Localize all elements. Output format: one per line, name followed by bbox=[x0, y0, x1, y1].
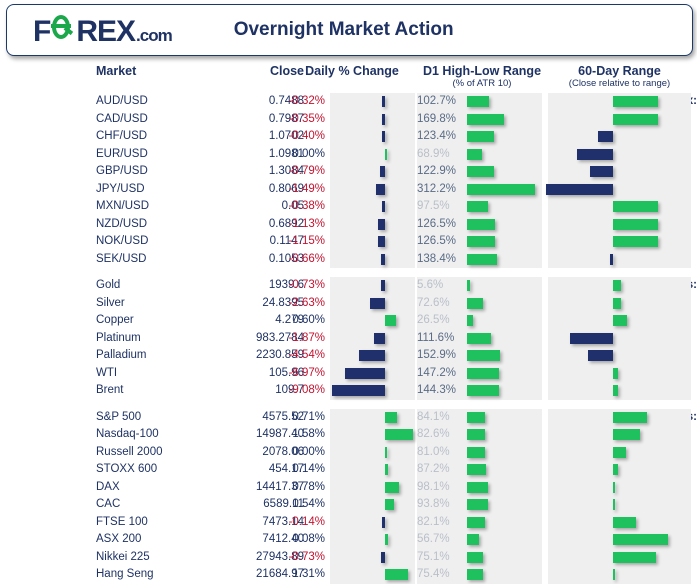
d1-range-bar bbox=[467, 534, 479, 545]
daily-change-bar bbox=[385, 482, 399, 493]
daily-change-bar bbox=[359, 350, 385, 361]
daily-change-bar bbox=[332, 385, 385, 396]
d1-range-value-label: 82.6% bbox=[417, 426, 465, 444]
sixty-day-range-bar bbox=[613, 96, 658, 107]
d1-range-bar bbox=[467, 464, 486, 475]
d1-range-value-label: 138.4% bbox=[417, 251, 465, 269]
sixty-day-range-bar bbox=[598, 131, 613, 142]
daily-change-bar bbox=[378, 236, 385, 247]
d1-range-bar bbox=[467, 350, 500, 361]
sixty-day-range-bar bbox=[613, 315, 627, 326]
logo-letter-f: F bbox=[33, 17, 50, 47]
daily-change-bar bbox=[374, 333, 385, 344]
d1-range-bar bbox=[467, 219, 495, 230]
market-section: Indices:84.1%82.6%81.0%87.2%98.1%93.8%82… bbox=[0, 409, 697, 584]
daily-change-bar bbox=[378, 219, 385, 230]
sixty-day-range-bar bbox=[613, 368, 618, 379]
daily-change-bar bbox=[382, 201, 385, 212]
daily-change-bar bbox=[382, 517, 385, 528]
daily-change-chart-panel bbox=[330, 93, 415, 268]
sixty-day-range-chart-panel bbox=[548, 277, 691, 400]
d1-range-bar bbox=[467, 385, 499, 396]
d1-range-value-label: 169.8% bbox=[417, 111, 465, 129]
forex-com-logo: F REX .com bbox=[33, 13, 172, 47]
d1-range-bar bbox=[467, 114, 504, 125]
d1-range-bar bbox=[467, 517, 485, 528]
d1-range-value-label: 123.4% bbox=[417, 128, 465, 146]
daily-change-bar bbox=[385, 429, 413, 440]
daily-change-bar bbox=[381, 254, 385, 265]
d1-range-bar bbox=[467, 447, 485, 458]
sixty-day-range-bar bbox=[613, 482, 615, 493]
d1-range-bar bbox=[467, 552, 483, 563]
logo-letters-rex: REX bbox=[76, 17, 135, 47]
d1-range-value-label: 93.8% bbox=[417, 496, 465, 514]
daily-change-bar bbox=[382, 131, 385, 142]
sixty-day-range-bar bbox=[577, 149, 613, 160]
d1-range-value-label: 82.1% bbox=[417, 514, 465, 532]
daily-change-bar bbox=[385, 447, 387, 458]
d1-range-value-label: 152.9% bbox=[417, 347, 465, 365]
sixty-day-range-chart-panel bbox=[548, 409, 691, 584]
sixty-day-range-bar bbox=[613, 447, 626, 458]
sixty-day-range-bar bbox=[610, 254, 613, 265]
sixty-day-range-bar bbox=[613, 464, 618, 475]
d1-range-value-label: 68.9% bbox=[417, 146, 465, 164]
page-title: Overnight Market Action bbox=[234, 19, 454, 41]
daily-change-bar bbox=[385, 412, 397, 423]
daily-change-bar bbox=[385, 149, 387, 160]
sixty-day-range-bar bbox=[613, 114, 658, 125]
d1-range-bar bbox=[467, 254, 497, 265]
column-header-60day-range: 60-Day Range bbox=[548, 64, 691, 78]
daily-change-bar bbox=[370, 298, 385, 309]
d1-range-value-label: 126.5% bbox=[417, 233, 465, 251]
sixty-day-range-bar bbox=[613, 534, 668, 545]
d1-range-chart-panel: 84.1%82.6%81.0%87.2%98.1%93.8%82.1%56.7%… bbox=[417, 409, 542, 584]
sixty-day-range-bar bbox=[613, 298, 621, 309]
market-section: Commodities:5.6%72.6%26.5%111.6%152.9%14… bbox=[0, 277, 697, 400]
d1-range-bar bbox=[467, 569, 483, 580]
forex-euro-o-icon bbox=[51, 13, 75, 41]
d1-range-value-label: 81.0% bbox=[417, 444, 465, 462]
daily-change-bar bbox=[385, 315, 396, 326]
d1-range-bar bbox=[467, 333, 491, 344]
d1-range-bar bbox=[467, 280, 470, 291]
daily-change-chart-panel bbox=[330, 277, 415, 400]
sixty-day-range-bar bbox=[613, 201, 658, 212]
d1-range-value-label: 5.6% bbox=[417, 277, 465, 295]
d1-range-bar bbox=[467, 149, 482, 160]
d1-range-bar bbox=[467, 131, 494, 142]
sixty-day-range-bar bbox=[613, 569, 615, 580]
d1-range-value-label: 75.4% bbox=[417, 566, 465, 584]
daily-change-bar bbox=[385, 569, 408, 580]
overnight-market-action-page: F REX .com Overnight Market Action Marke… bbox=[0, 0, 697, 541]
d1-range-value-label: 312.2% bbox=[417, 181, 465, 199]
sixty-day-range-bar bbox=[613, 552, 656, 563]
d1-range-value-label: 72.6% bbox=[417, 295, 465, 313]
column-subheader-60day-range: (Close relative to range) bbox=[548, 78, 691, 89]
d1-range-chart-panel: 102.7%169.8%123.4%68.9%122.9%312.2%97.5%… bbox=[417, 93, 542, 268]
daily-change-bar bbox=[381, 552, 385, 563]
daily-change-bar bbox=[376, 184, 385, 195]
sixty-day-range-bar bbox=[613, 219, 658, 230]
market-section: Forex:102.7%169.8%123.4%68.9%122.9%312.2… bbox=[0, 93, 697, 268]
sixty-day-range-bar bbox=[570, 333, 613, 344]
column-header-d1-range: D1 High-Low Range bbox=[417, 64, 547, 78]
sixty-day-range-bar bbox=[613, 412, 647, 423]
d1-range-value-label: 87.2% bbox=[417, 461, 465, 479]
d1-range-value-label: 26.5% bbox=[417, 312, 465, 330]
d1-range-bar bbox=[467, 96, 489, 107]
sixty-day-range-bar bbox=[613, 499, 615, 510]
sixty-day-range-bar bbox=[613, 236, 658, 247]
d1-range-bar bbox=[467, 429, 485, 440]
daily-change-bar bbox=[380, 166, 385, 177]
logo-dotcom: .com bbox=[136, 27, 172, 44]
sixty-day-range-bar bbox=[546, 184, 613, 195]
d1-range-bar bbox=[467, 368, 499, 379]
d1-range-value-label: 111.6% bbox=[417, 330, 465, 348]
d1-range-value-label: 75.1% bbox=[417, 549, 465, 567]
d1-range-bar bbox=[467, 482, 488, 493]
d1-range-bar bbox=[467, 201, 488, 212]
sixty-day-range-bar bbox=[613, 517, 636, 528]
d1-range-bar bbox=[467, 412, 485, 423]
daily-change-bar bbox=[345, 368, 385, 379]
sixty-day-range-chart-panel bbox=[548, 93, 691, 268]
daily-change-bar bbox=[382, 114, 385, 125]
d1-range-bar bbox=[467, 166, 494, 177]
sixty-day-range-bar bbox=[590, 166, 613, 177]
daily-change-bar bbox=[382, 96, 385, 107]
d1-range-value-label: 126.5% bbox=[417, 216, 465, 234]
d1-range-bar bbox=[467, 236, 495, 247]
d1-range-bar bbox=[467, 184, 535, 195]
d1-range-bar bbox=[467, 315, 473, 326]
daily-change-bar bbox=[385, 464, 388, 475]
sixty-day-range-bar bbox=[613, 385, 618, 396]
d1-range-value-label: 97.5% bbox=[417, 198, 465, 216]
column-header-daily-change: Daily % Change bbox=[272, 64, 432, 78]
d1-range-bar bbox=[467, 499, 488, 510]
d1-range-value-label: 122.9% bbox=[417, 163, 465, 181]
d1-range-value-label: 102.7% bbox=[417, 93, 465, 111]
daily-change-bar bbox=[381, 280, 385, 291]
daily-change-chart-panel bbox=[330, 409, 415, 584]
sixty-day-range-bar bbox=[613, 429, 640, 440]
header-bar: F REX .com Overnight Market Action bbox=[6, 4, 693, 56]
d1-range-value-label: 56.7% bbox=[417, 531, 465, 549]
d1-range-bar bbox=[467, 298, 483, 309]
d1-range-value-label: 98.1% bbox=[417, 479, 465, 497]
d1-range-value-label: 144.3% bbox=[417, 382, 465, 400]
d1-range-value-label: 84.1% bbox=[417, 409, 465, 427]
daily-change-bar bbox=[385, 534, 388, 545]
d1-range-chart-panel: 5.6%72.6%26.5%111.6%152.9%147.2%144.3% bbox=[417, 277, 542, 400]
daily-change-bar bbox=[385, 499, 394, 510]
d1-range-value-label: 147.2% bbox=[417, 365, 465, 383]
column-subheader-d1-range: (% of ATR 10) bbox=[417, 78, 547, 89]
sixty-day-range-bar bbox=[613, 280, 621, 291]
sixty-day-range-bar bbox=[588, 350, 613, 361]
